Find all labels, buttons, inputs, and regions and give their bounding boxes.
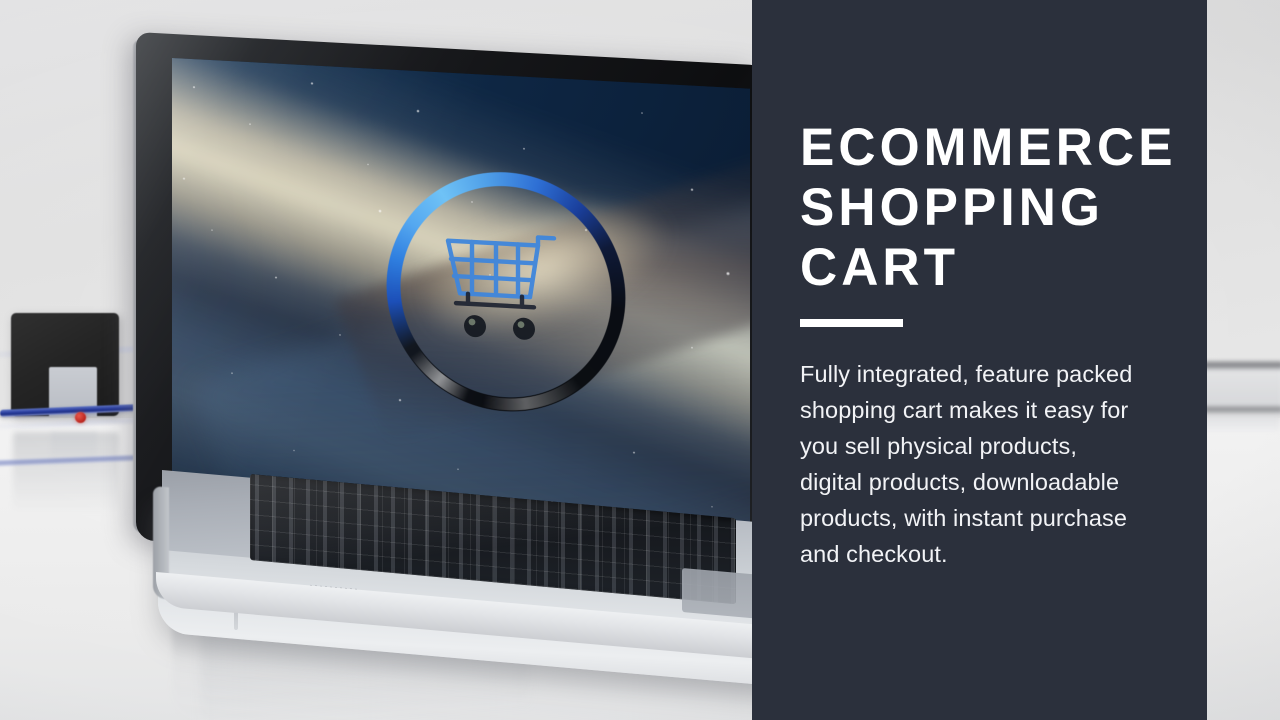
title-underline bbox=[800, 319, 903, 327]
laptop-screen bbox=[172, 58, 750, 539]
shopping-cart-badge bbox=[386, 165, 626, 418]
slide-body-text: Fully integrated, feature packed shoppin… bbox=[800, 356, 1144, 572]
slide-title: ECOMMERCE SHOPPING CART bbox=[800, 118, 1149, 298]
text-panel: ECOMMERCE SHOPPING CART Fully integrated… bbox=[752, 0, 1207, 720]
background-object-top bbox=[1198, 362, 1280, 369]
slide-stage: ECOMMERCE SHOPPING CART Fully integrated… bbox=[0, 0, 1280, 720]
background-object-bottom bbox=[1202, 413, 1280, 431]
shopping-cart-icon bbox=[442, 226, 572, 353]
background-object-right bbox=[1198, 352, 1280, 430]
background-object-body bbox=[1200, 369, 1280, 409]
laptop bbox=[0, 0, 780, 720]
text-panel-content: ECOMMERCE SHOPPING CART Fully integrated… bbox=[800, 118, 1160, 572]
